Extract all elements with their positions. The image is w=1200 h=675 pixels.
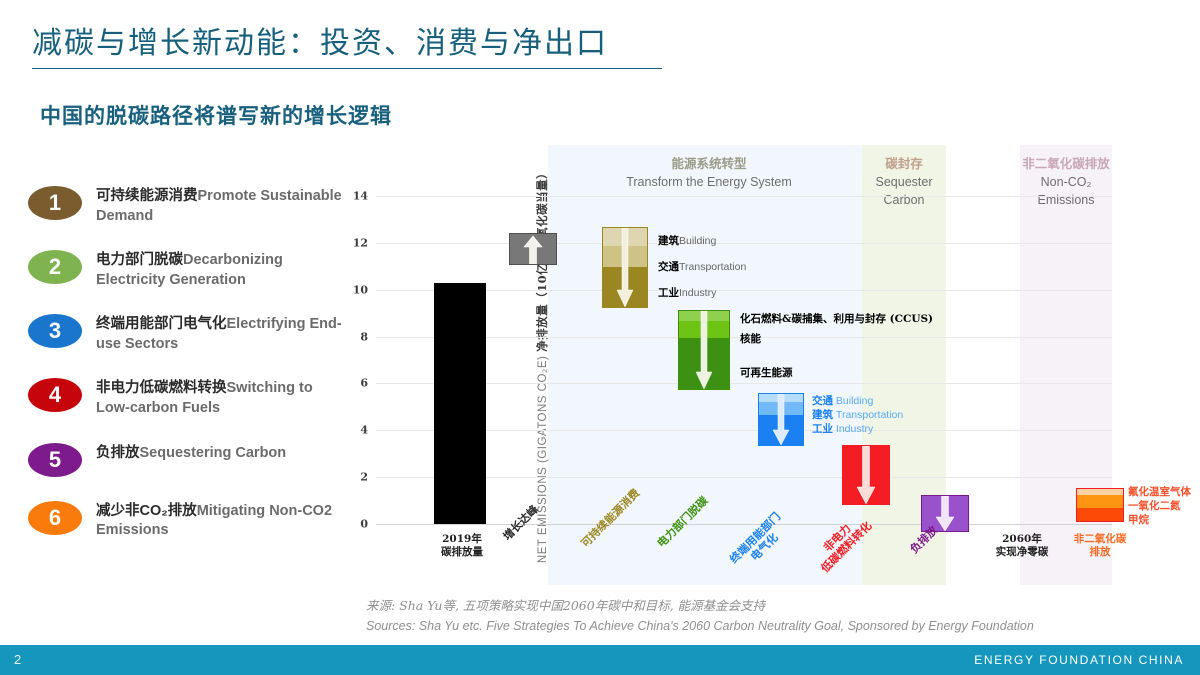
legend-building-cn: 建筑: [658, 235, 679, 247]
legend-transportation-en: Transportation: [679, 261, 746, 273]
x-label-electrification: 终端用能部门 电气化: [727, 510, 792, 575]
x-label-2019: 2019年 碳排放量: [420, 533, 504, 559]
legend-industry: 工业Industry: [658, 287, 716, 301]
legend-electrify-row1: 交通 Building: [812, 395, 873, 409]
segment-methane: [1077, 508, 1123, 521]
bar-low-carbon-fuels: [842, 445, 890, 505]
legend-methane-cn: 甲烷: [1128, 514, 1149, 526]
step-label-1: 可持续能源消费Promote Sustainable Demand: [96, 186, 348, 226]
x-label-power-decarbonization-text: 电力部门脱碳: [655, 494, 711, 550]
gridline-4: 4: [376, 430, 1112, 431]
source-note-en: Sources: Sha Yu etc. Five Strategies To …: [366, 616, 1126, 636]
y-tick-14: 14: [353, 190, 368, 203]
legend-transportation: 交通Transportation: [658, 261, 746, 275]
brand-label: ENERGY FOUNDATION CHINA: [974, 653, 1184, 667]
legend-fossil-ccus-cn: 化石燃料&碳捕集、利用与封存 (CCUS): [740, 313, 933, 325]
x-label-non-co2: 非二氧化碳 排放: [1058, 533, 1142, 559]
x-label-2060-line2: 实现净零碳: [980, 546, 1064, 559]
y-tick-4: 4: [360, 424, 368, 437]
step-label-cn-5: 负排放: [96, 445, 140, 461]
y-tick-0: 0: [360, 518, 368, 531]
y-axis-title-en: NET EMISSIONS (GIGATONS CO₂E): [537, 356, 549, 563]
legend-industry-en: Industry: [679, 287, 716, 299]
strategy-list: 1 可持续能源消费Promote Sustainable Demand 2 电力…: [28, 186, 348, 565]
page-number: 2: [14, 652, 21, 667]
arrow-down-icon: [934, 496, 956, 532]
y-axis-title: NET EMISSIONS (GIGATONS CO₂E) 净排放量（10亿吨二…: [534, 167, 550, 563]
list-item-5[interactable]: 5 负排放Sequestering Carbon: [28, 443, 348, 477]
legend-f-gases: 氟化温室气体: [1128, 486, 1191, 500]
arrow-up-icon: [522, 234, 544, 265]
step-label-2: 电力部门脱碳Decarbonizing Electricity Generati…: [96, 250, 348, 290]
y-tick-8: 8: [360, 331, 368, 344]
legend-renewables-cn: 可再生能源: [740, 367, 793, 379]
x-label-non-co2-line1: 非二氧化碳: [1058, 533, 1142, 546]
waterfall-chart: 能源系统转型 Transform the Energy System 碳封存 S…: [336, 145, 1132, 585]
x-label-2019-line1: 2019年: [420, 533, 504, 546]
step-label-3: 终端用能部门电气化Electrifying End-use Sectors: [96, 314, 348, 354]
legend-electrify-row3: 工业 Industry: [812, 423, 873, 437]
legend-renewables: 可再生能源: [740, 367, 793, 381]
step-badge-6: 6: [28, 501, 82, 535]
legend-nuclear-cn: 核能: [740, 333, 761, 345]
x-label-2019-line2: 碳排放量: [420, 546, 504, 559]
list-item-4[interactable]: 4 非电力低碳燃料转换Switching to Low-carbon Fuels: [28, 378, 348, 418]
source-note: 来源: Sha Yu等, 五项策略实现中国2060年碳中和目标, 能源基金会支持…: [366, 596, 1126, 636]
x-label-2060-line1: 2060年: [980, 533, 1064, 546]
arrow-down-icon: [694, 311, 714, 390]
arrow-down-icon: [771, 394, 791, 446]
legend-n2o-cn: 一氧化二氮: [1128, 500, 1181, 512]
page-title: 减碳与增长新动能：投资、消费与净出口: [32, 18, 662, 69]
plot-area: NET EMISSIONS (GIGATONS CO₂E) 净排放量（10亿吨二…: [376, 145, 1112, 585]
step-badge-5: 5: [28, 443, 82, 477]
gridline-2: 2: [376, 477, 1112, 478]
slide-root: 减碳与增长新动能：投资、消费与净出口 中国的脱碳路径将谱写新的增长逻辑 1 可持…: [0, 0, 1200, 675]
step-badge-2: 2: [28, 250, 82, 284]
list-item-1[interactable]: 1 可持续能源消费Promote Sustainable Demand: [28, 186, 348, 226]
legend-electrify-en-2: Transportation: [836, 409, 903, 421]
list-item-3[interactable]: 3 终端用能部门电气化Electrifying End-use Sectors: [28, 314, 348, 354]
list-item-6[interactable]: 6 减少非CO₂排放Mitigating Non-CO2 Emissions: [28, 501, 348, 541]
legend-electrify-en-1: Building: [836, 395, 873, 407]
bar-sustainable-demand: [602, 227, 648, 308]
footer-bar: 2 ENERGY FOUNDATION CHINA: [0, 645, 1200, 675]
step-label-6: 减少非CO₂排放Mitigating Non-CO2 Emissions: [96, 501, 348, 541]
legend-f-gases-cn: 氟化温室气体: [1128, 486, 1191, 498]
list-item-2[interactable]: 2 电力部门脱碳Decarbonizing Electricity Genera…: [28, 250, 348, 290]
arrow-down-icon: [855, 446, 877, 505]
step-label-4: 非电力低碳燃料转换Switching to Low-carbon Fuels: [96, 378, 348, 418]
step-label-cn-6: 减少非CO₂排放: [96, 503, 197, 519]
legend-fossil-ccus: 化石燃料&碳捕集、利用与封存 (CCUS): [740, 313, 933, 327]
x-label-non-co2-line2: 排放: [1058, 546, 1142, 559]
bar-growth-peak: [509, 233, 557, 265]
y-tick-6: 6: [360, 377, 368, 390]
gridline-14: 14: [376, 196, 1112, 197]
arrow-down-icon: [615, 228, 635, 308]
y-tick-10: 10: [353, 284, 368, 297]
step-label-cn-2: 电力部门脱碳: [96, 252, 183, 268]
y-tick-2: 2: [360, 471, 368, 484]
bar-2019-emissions: [434, 283, 486, 524]
legend-electrify-cn-3: 工业: [812, 423, 833, 435]
bar-end-use-electrification: [758, 393, 804, 446]
step-label-cn-3: 终端用能部门电气化: [96, 316, 227, 332]
gridline-12: 12: [376, 243, 1112, 244]
gridline-10: 10: [376, 290, 1112, 291]
step-label-5: 负排放Sequestering Carbon: [96, 443, 286, 464]
legend-transportation-cn: 交通: [658, 261, 679, 273]
x-label-sustainable-demand-text: 可持续能源消费: [579, 486, 643, 550]
gridline-0: 0: [376, 524, 1112, 525]
legend-building-en: Building: [679, 235, 716, 247]
step-label-en-5: Sequestering Carbon: [140, 445, 287, 461]
bar-non-co2-emissions: [1076, 488, 1124, 522]
legend-electrify-en-3: Industry: [836, 423, 873, 435]
bar-power-decarbonization: [678, 310, 730, 390]
legend-electrify-row2: 建筑 Transportation: [812, 409, 903, 423]
y-tick-12: 12: [353, 237, 368, 250]
x-label-low-carbon-fuels: 非电力 低碳燃料转化: [809, 510, 874, 575]
legend-industry-cn: 工业: [658, 287, 679, 299]
legend-methane: 甲烷: [1128, 514, 1149, 528]
gridline-6: 6: [376, 383, 1112, 384]
step-badge-3: 3: [28, 314, 82, 348]
segment-n2o: [1077, 495, 1123, 508]
legend-n2o: 一氧化二氮: [1128, 500, 1181, 514]
legend-electrify-cn-1: 交通: [812, 395, 833, 407]
x-label-power-decarbonization: 电力部门脱碳: [655, 494, 711, 550]
step-label-cn-1: 可持续能源消费: [96, 188, 198, 204]
x-label-2060: 2060年 实现净零碳: [980, 533, 1064, 559]
step-badge-4: 4: [28, 378, 82, 412]
page-subtitle: 中国的脱碳路径将谱写新的增长逻辑: [40, 100, 392, 130]
step-badge-1: 1: [28, 186, 82, 220]
legend-electrify-cn-2: 建筑: [812, 409, 833, 421]
x-label-sustainable-demand: 可持续能源消费: [579, 486, 643, 550]
source-note-cn: 来源: Sha Yu等, 五项策略实现中国2060年碳中和目标, 能源基金会支持: [366, 596, 1126, 616]
legend-nuclear: 核能: [740, 333, 761, 347]
step-label-cn-4: 非电力低碳燃料转换: [96, 380, 227, 396]
legend-building: 建筑Building: [658, 235, 716, 249]
